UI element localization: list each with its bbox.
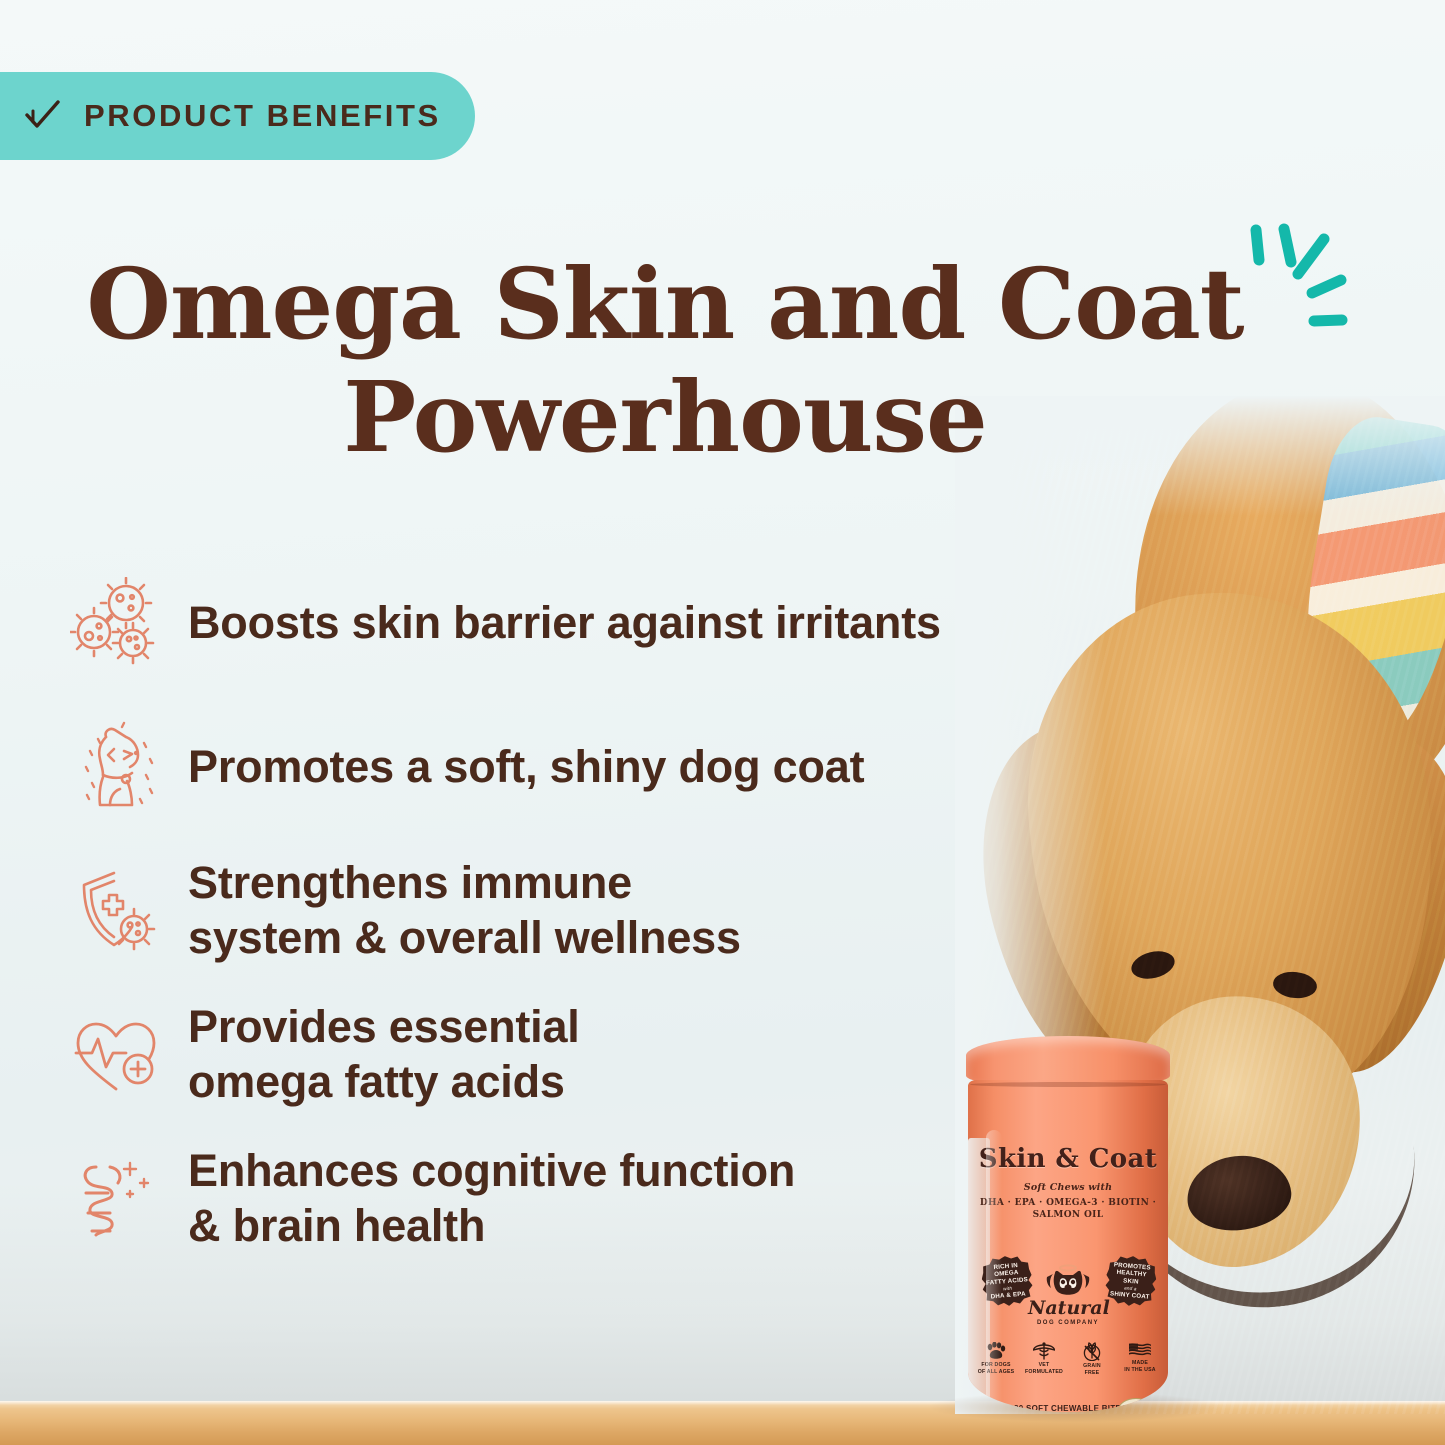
sparkle-burst-icon [1244,212,1364,347]
list-item-label: Enhances cognitive function& brain healt… [188,1144,795,1254]
skin-coat-seal-badge: PROMOTES HEALTHY SKIN and a SHINY COAT [1104,1254,1158,1308]
list-item-label: Promotes a soft, shiny dog coat [188,740,864,795]
shield-immune-icon [70,865,162,957]
benefits-list: Boosts skin barrier against irritants [70,568,970,1254]
check-icon [22,96,62,136]
list-item-label: Provides essentialomega fatty acids [188,1000,580,1110]
trust-label-1: FOR DOGS [976,1362,1016,1369]
bacteria-icon [70,577,162,669]
product-benefits-badge: PRODUCT BENEFITS [0,72,475,160]
trust-badge: VET FORMULATED [1024,1342,1064,1377]
trust-label-2: OF ALL AGES [976,1369,1016,1376]
page-title: Omega Skin and Coat Powerhouse [0,248,1330,475]
badge-label: PRODUCT BENEFITS [84,98,441,134]
list-item-label: Strengthens immunesystem & overall welln… [188,856,741,966]
list-item-label: Boosts skin barrier against irritants [188,596,941,651]
trust-label-2: IN THE USA [1120,1367,1160,1374]
brand-logo: Natural DOG COMPANY [1028,1264,1108,1326]
trust-label-2: FORMULATED [1024,1369,1064,1376]
caduceus-icon [1033,1342,1055,1360]
list-item: Promotes a soft, shiny dog coat [70,712,970,822]
trust-badge: FOR DOGS OF ALL AGES [976,1342,1016,1377]
ingredients-line-1: DHA · EPA · OMEGA-3 · BIOTIN · [980,1198,1156,1208]
grain-free-icon [1082,1342,1102,1361]
product-subtitle: Soft Chews with [968,1182,1168,1193]
trust-badges-row: FOR DOGS OF ALL AGES VET [976,1342,1160,1377]
list-item: Provides essentialomega fatty acids [70,1000,970,1110]
list-item: Boosts skin barrier against irritants [70,568,970,678]
product-jar: Skin & Coat Soft Chews with DHA · EPA · … [962,1036,1174,1416]
gut-brain-icon [70,1153,162,1245]
trust-label-1: MADE [1120,1360,1160,1367]
bulldog-halo-icon [1045,1264,1091,1298]
headline-line-1: Omega Skin and Coat [86,247,1243,361]
headline-line-2: Powerhouse [0,361,1330,474]
usa-flag-icon [1128,1342,1152,1358]
trust-badge: MADE IN THE USA [1120,1342,1160,1377]
paw-icon [986,1342,1006,1360]
product-ingredients: DHA · EPA · OMEGA-3 · BIOTIN · SALMON OI… [974,1197,1162,1221]
shiny-dog-icon [70,721,162,813]
brand-tagline: DOG COMPANY [1028,1320,1108,1326]
jar-lid-seam [970,1082,1166,1087]
ingredients-line-2: SALMON OIL [1033,1210,1104,1220]
trust-label-2: FREE [1072,1370,1112,1377]
nasc-quality-seal: NASC [1118,1398,1154,1412]
trust-label-1: GRAIN [1072,1363,1112,1370]
marketing-image: PRODUCT BENEFITS Omega Skin and Coat Pow… [0,0,1445,1445]
heart-pulse-icon [70,1009,162,1101]
list-item: Enhances cognitive function& brain healt… [70,1144,970,1254]
list-item: Strengthens immunesystem & overall welln… [70,856,970,966]
brand-name: Natural [1028,1299,1108,1318]
jar-body: Skin & Coat Soft Chews with DHA · EPA · … [968,1080,1168,1412]
trust-badge: GRAIN FREE [1072,1342,1112,1377]
product-name: Skin & Coat [968,1144,1168,1174]
trust-label-1: VET [1024,1362,1064,1369]
